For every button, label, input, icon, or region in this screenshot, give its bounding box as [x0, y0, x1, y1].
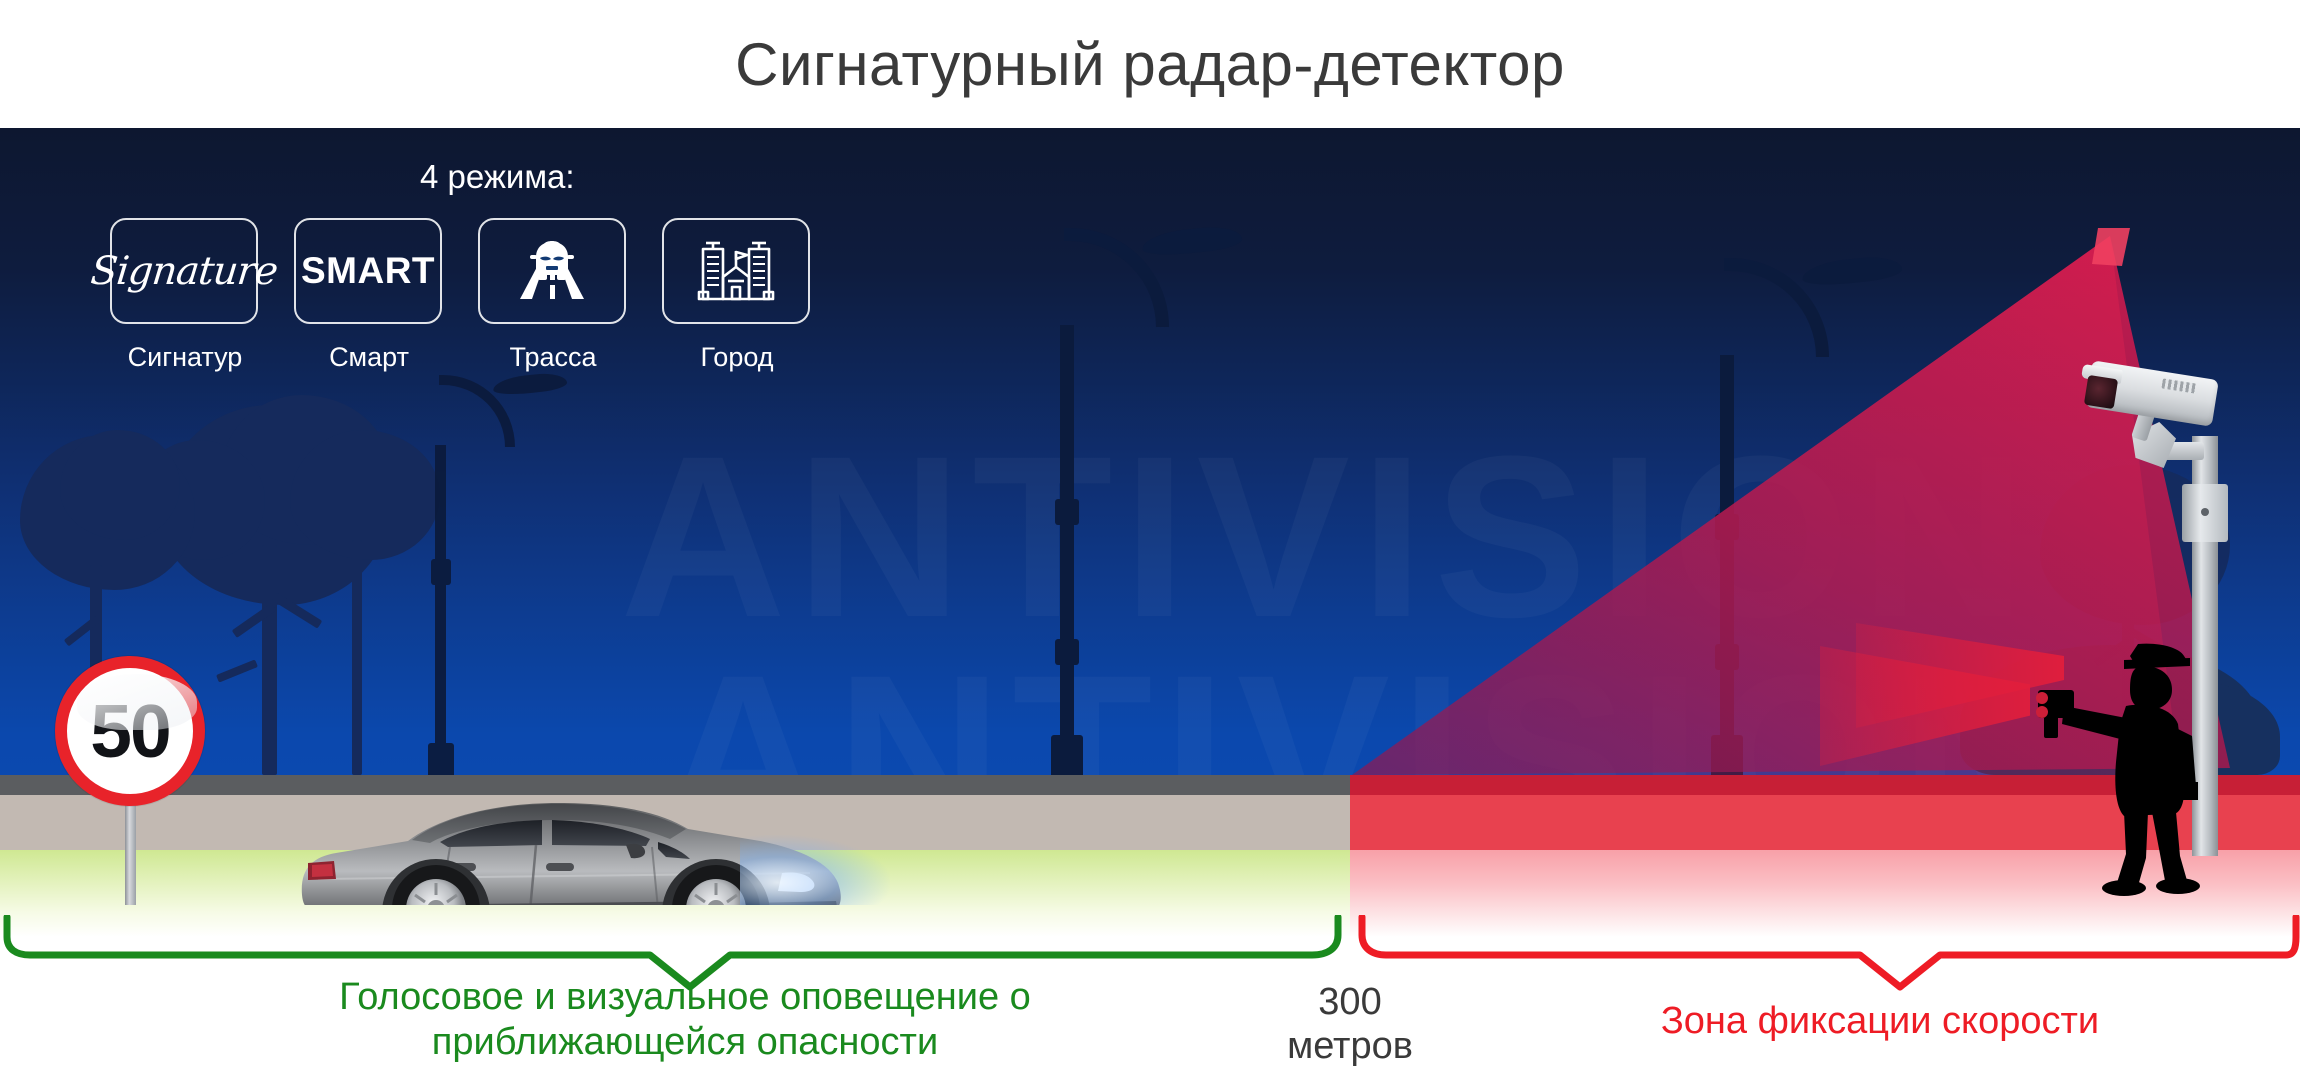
city-mode-icon[interactable]	[662, 218, 810, 324]
modes-row: Signature Сигнатур SMART Смарт	[110, 218, 812, 373]
police-officer-silhouette	[2020, 636, 2250, 896]
sedan-car-side-view	[290, 783, 850, 905]
page-title: Сигнатурный радар-детектор	[735, 30, 1565, 99]
mode-label-city: Город	[662, 342, 812, 373]
distance-label: 300 метров	[1260, 980, 1440, 1068]
alert-zone-caption-line-2: приближающейся опасности	[60, 1020, 1310, 1065]
smart-wordmark: SMART	[301, 250, 435, 292]
highway-icon	[510, 235, 594, 307]
camera-pole-bolt	[2201, 508, 2209, 516]
camera-lens	[2084, 375, 2118, 409]
car-illustration	[290, 783, 850, 905]
alert-zone-caption: Голосовое и визуальное оповещение о приб…	[60, 975, 1310, 1065]
distance-unit: метров	[1260, 1024, 1440, 1068]
modes-title: 4 режима:	[420, 158, 812, 196]
mode-label-highway: Трасса	[478, 342, 628, 373]
signature-wordmark: Signature	[89, 249, 280, 294]
speed-limit-sign: 50	[55, 656, 205, 806]
mode-label-signature: Сигнатур	[110, 342, 260, 373]
night-road-scene: ANTIVISION ANTIVISION	[0, 128, 2300, 905]
modes-panel: 4 режима: Signature Сигнатур SMART Смарт	[110, 158, 812, 373]
mode-card-highway[interactable]: Трасса	[478, 218, 628, 373]
highway-mode-icon[interactable]	[478, 218, 626, 324]
mode-card-smart[interactable]: SMART Смарт	[294, 218, 444, 373]
city-icon	[695, 235, 777, 307]
smart-mode-icon[interactable]: SMART	[294, 218, 442, 324]
mode-label-smart: Смарт	[294, 342, 444, 373]
page-header: Сигнатурный радар-детектор	[0, 0, 2300, 128]
signature-mode-icon[interactable]: Signature	[110, 218, 258, 324]
mode-card-signature[interactable]: Signature Сигнатур	[110, 218, 260, 373]
distance-value: 300	[1260, 980, 1440, 1024]
speed-limit-value: 50	[90, 694, 169, 769]
mode-card-city[interactable]: Город	[662, 218, 812, 373]
alert-zone-caption-line-1: Голосовое и визуальное оповещение о	[60, 975, 1310, 1020]
police-officer	[2020, 636, 2250, 901]
red-bracket	[1362, 917, 2296, 987]
enforcement-zone-caption: Зона фиксации скорости	[1480, 1000, 2280, 1043]
